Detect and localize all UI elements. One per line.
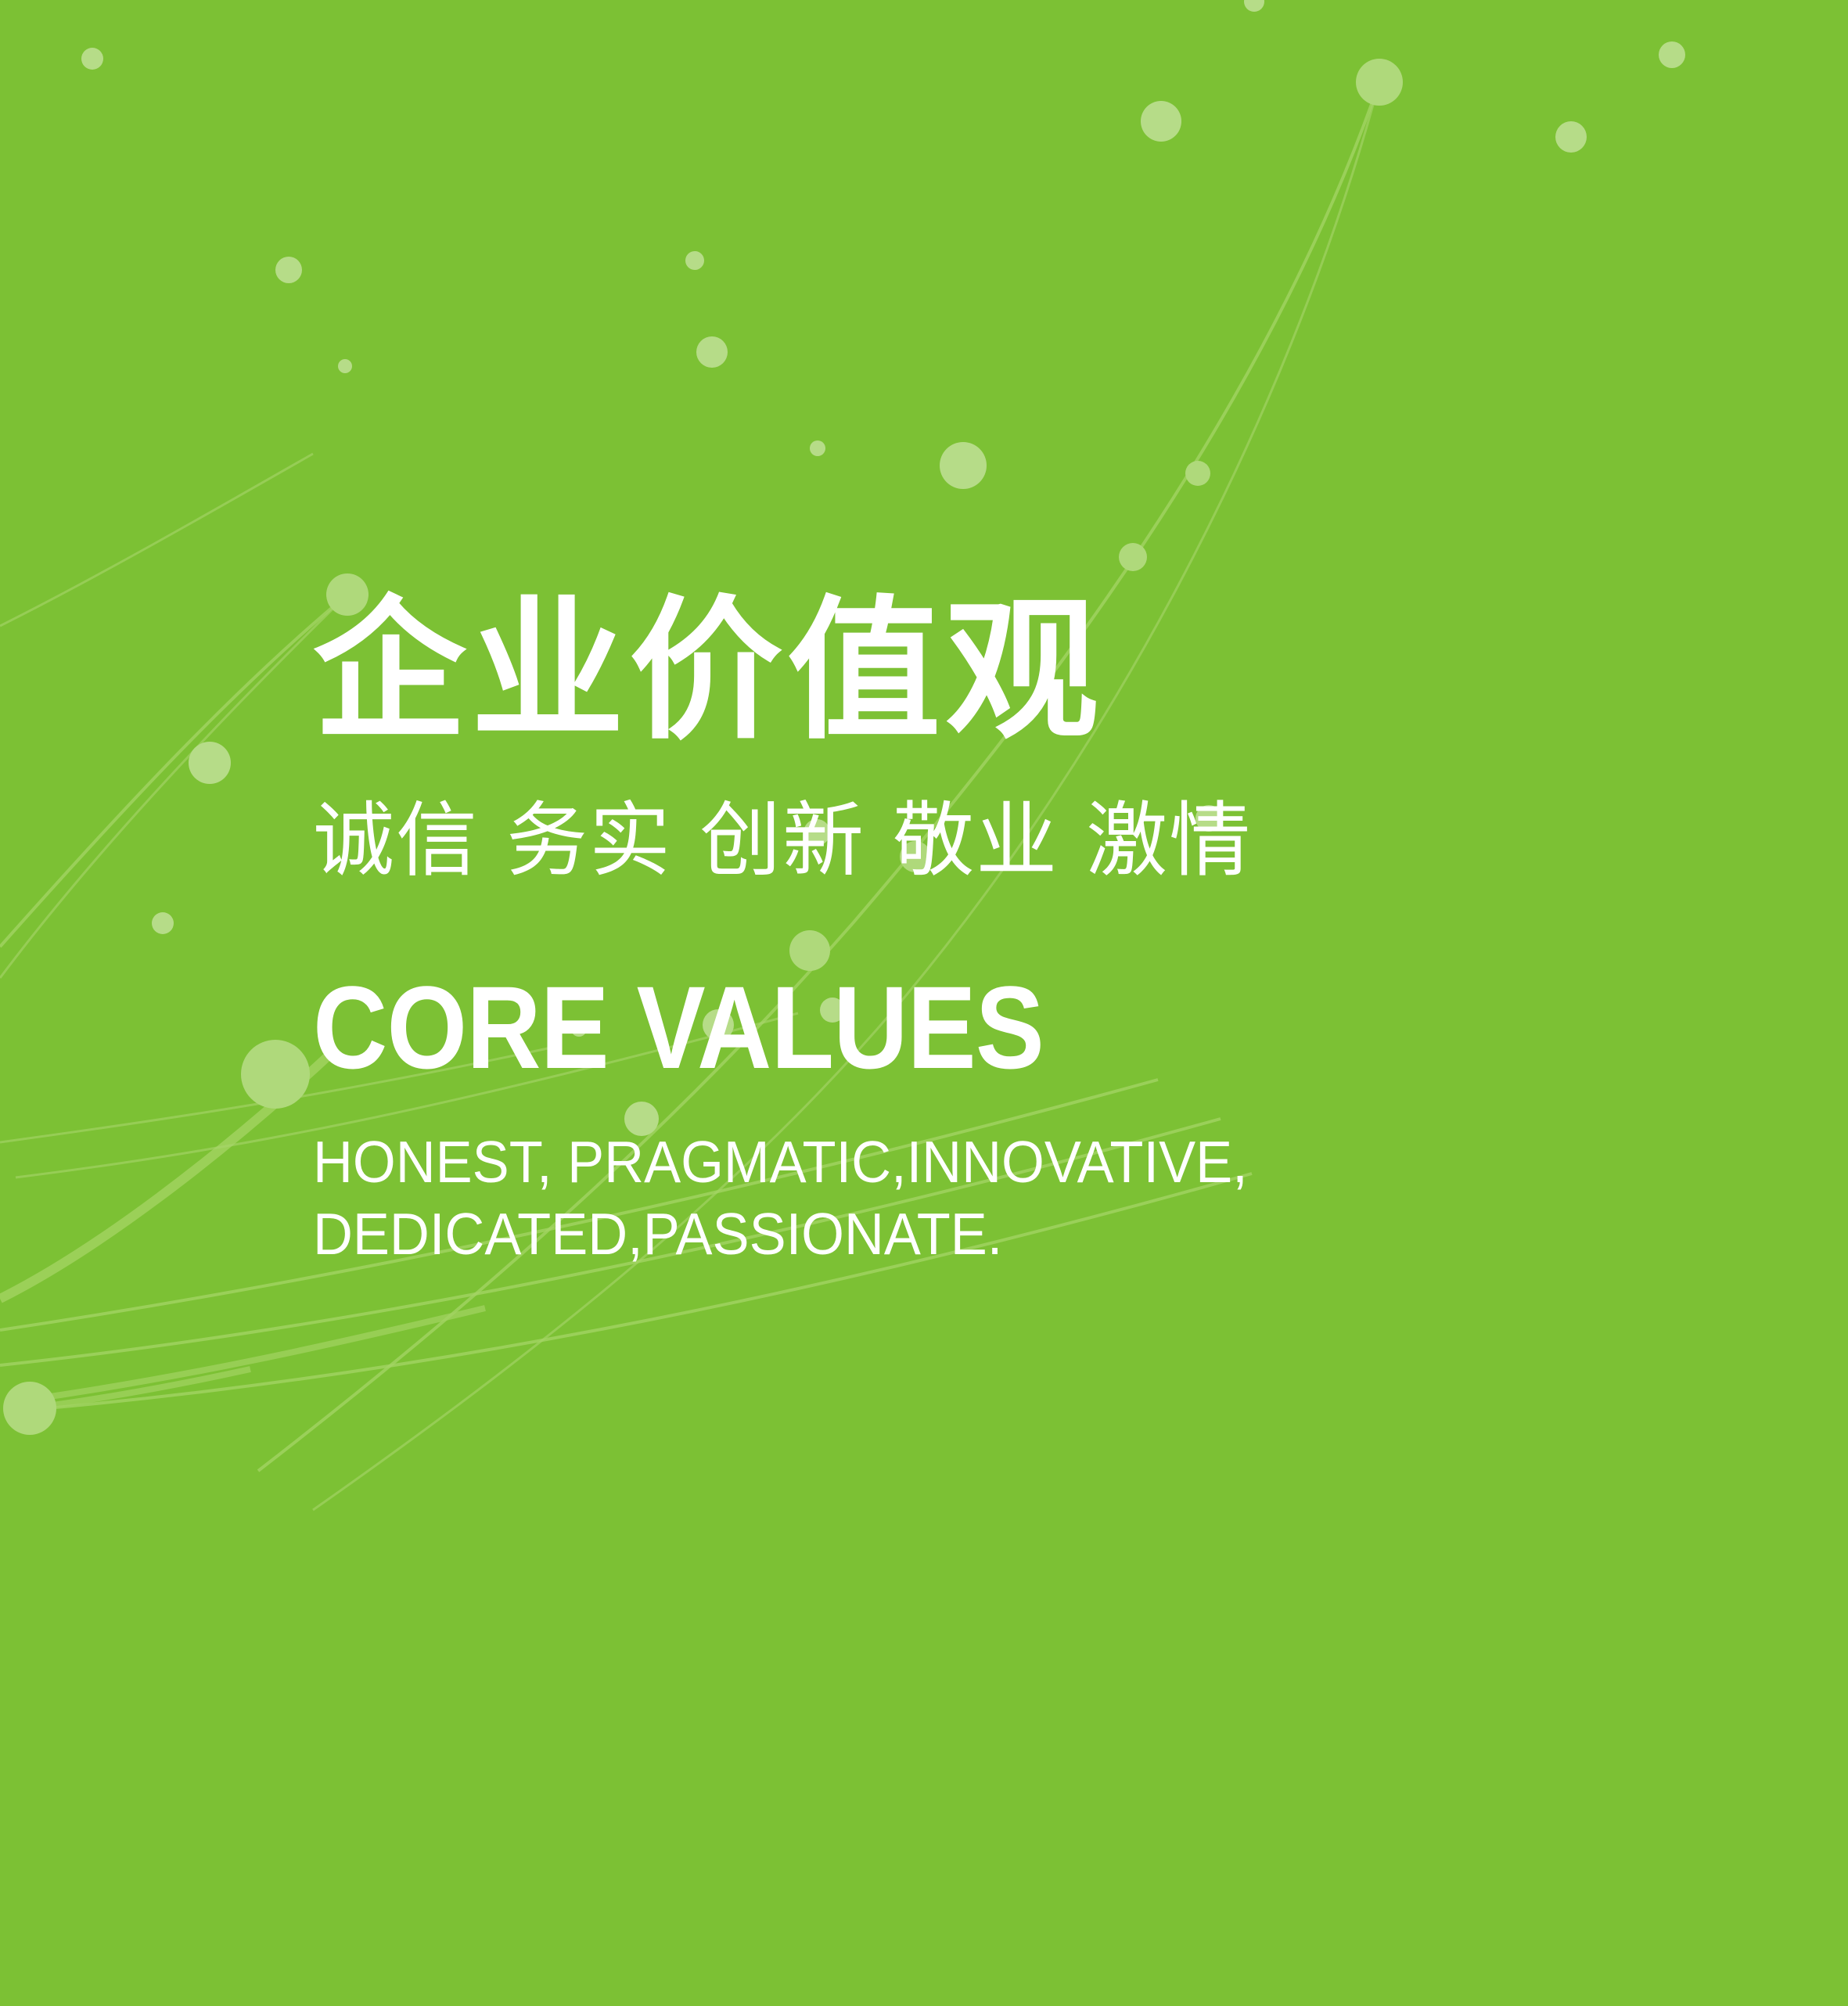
subtitle-chinese-values: 诚信 务实 创新 敬业 激情 [313,800,1721,881]
body-english-line-1: HONEST, PRAGMATIC,INNOVATIVE, [313,1127,1637,1199]
body-english-line-2: DEDICATED,PASSIONATE. [313,1199,1637,1271]
body-english-values: HONEST, PRAGMATIC,INNOVATIVE, DEDICATED,… [313,1127,1637,1270]
core-values-poster: .ln { fill:none; stroke:#A4D466; stroke-… [0,0,1848,2006]
page-title-english: CORE VALUES [313,969,1552,1086]
poster-text-block: 企业价值观 诚信 务实 创新 敬业 激情 CORE VALUES HONEST,… [313,595,1721,1270]
page-title-chinese: 企业价值观 [313,595,1721,748]
